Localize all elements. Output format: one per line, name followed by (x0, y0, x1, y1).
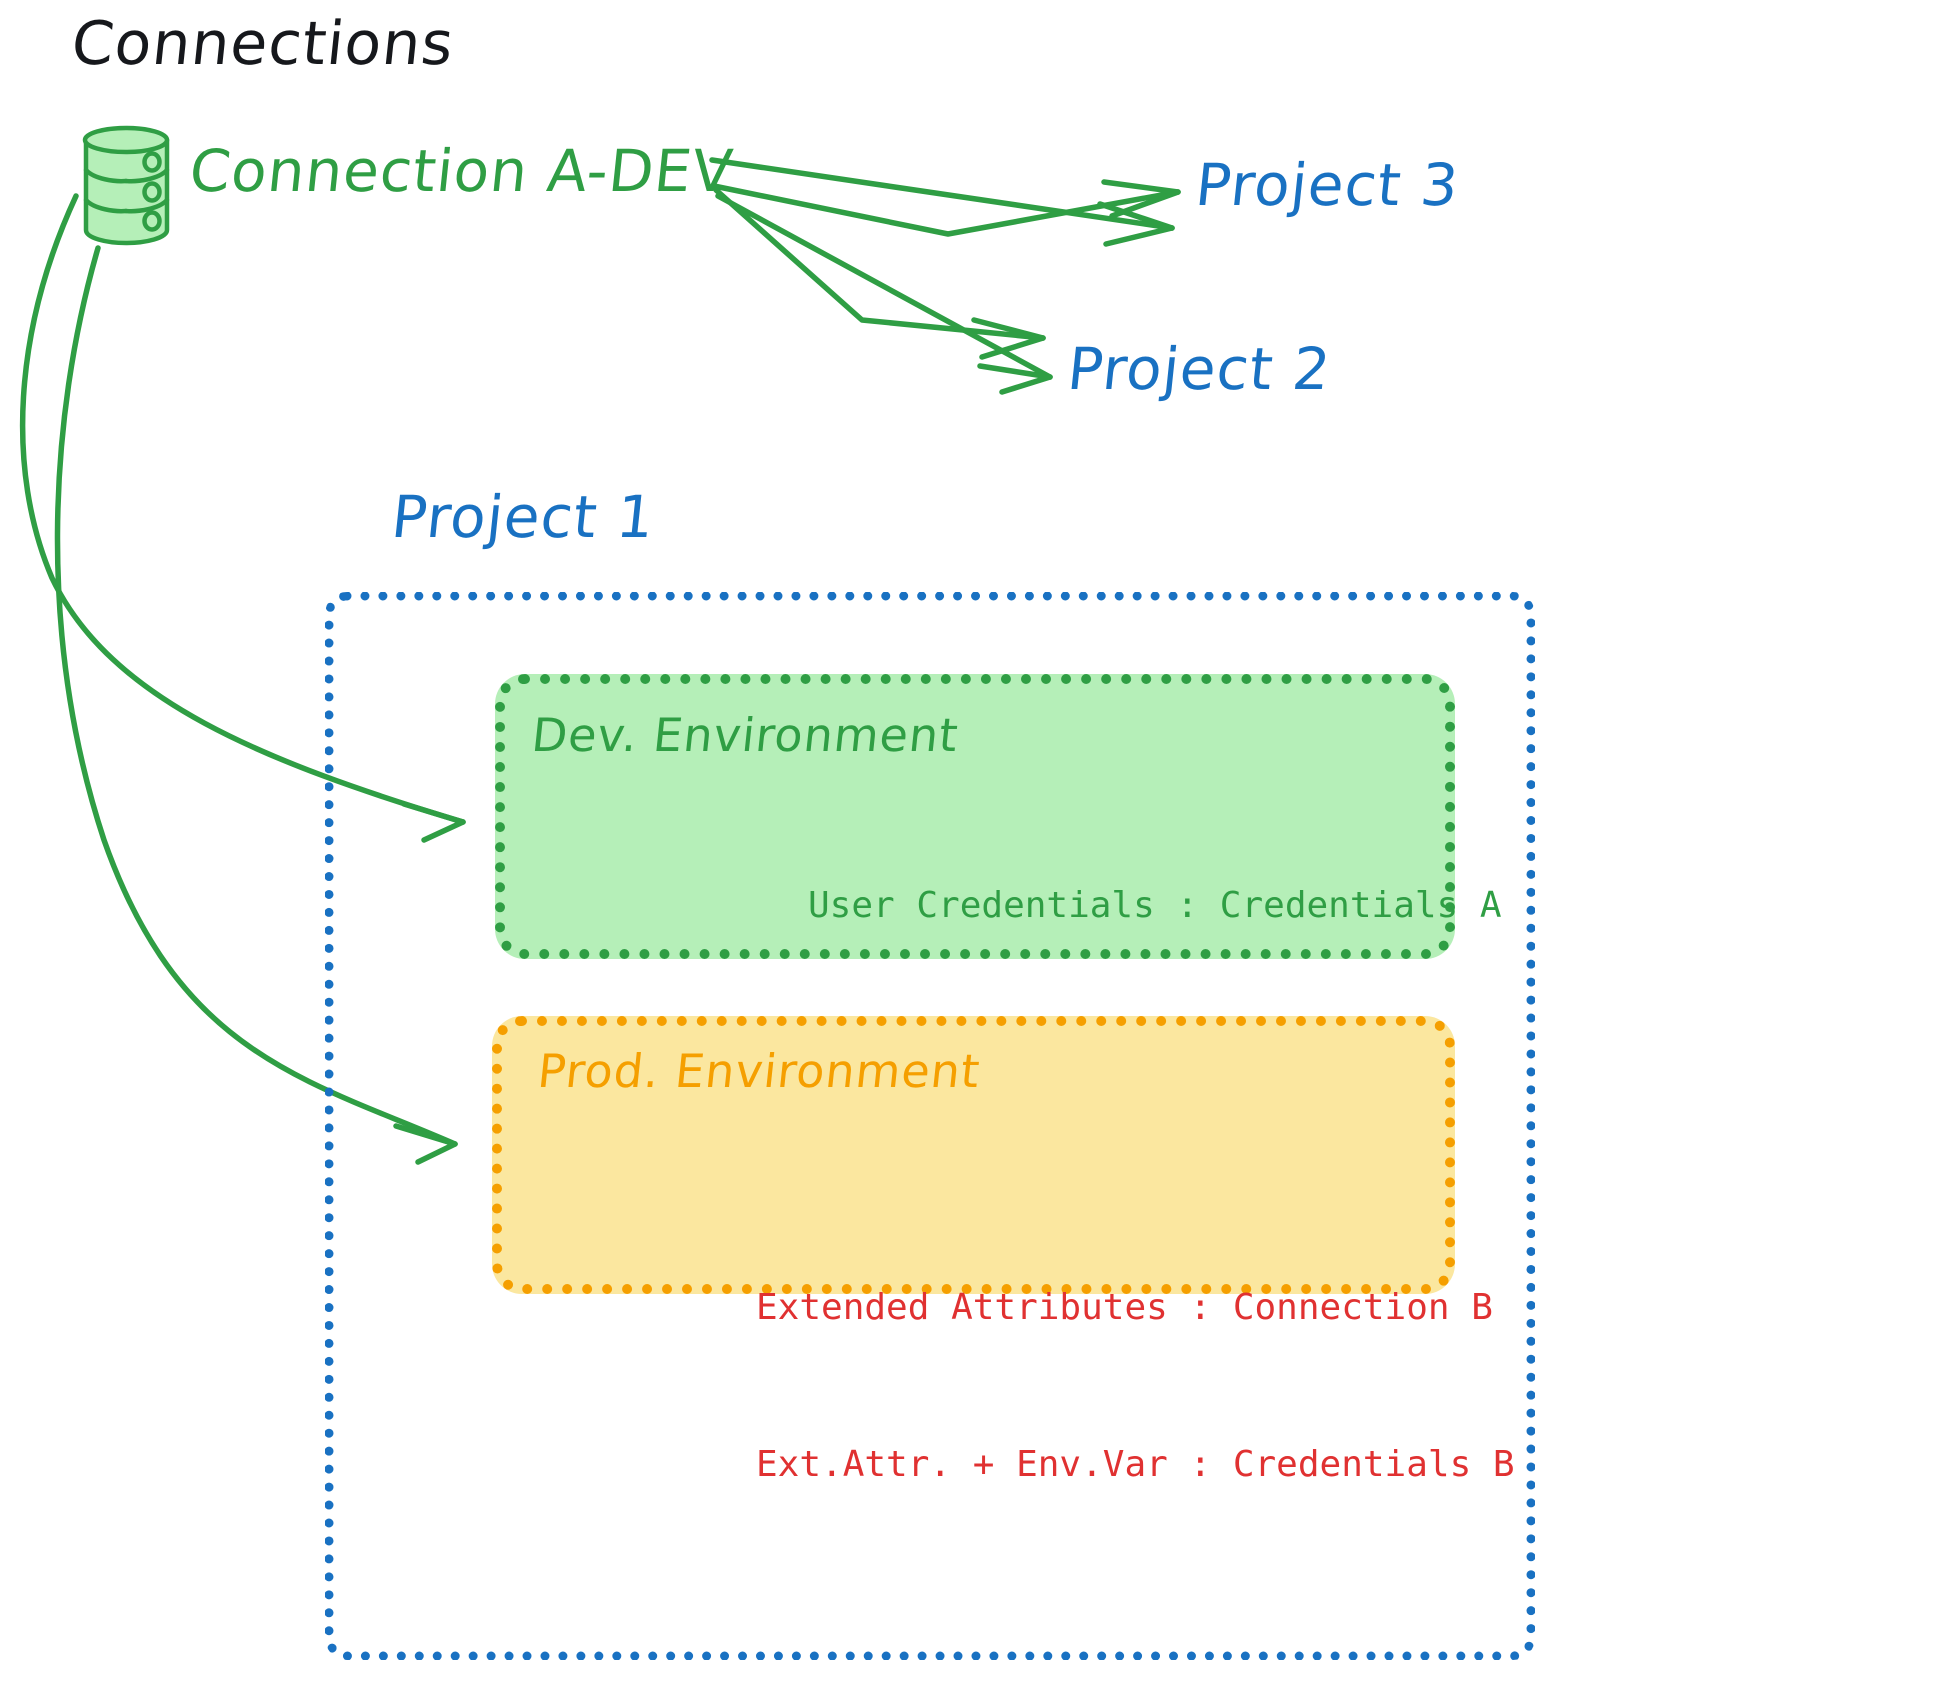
dev-user-credentials-row: User Credentials : Credentials A (808, 880, 1502, 932)
prod-extended-attributes-row: Extended Attributes : Connection B (756, 1282, 1515, 1334)
database-icon (68, 118, 188, 248)
arrow-conn-to-project2-b (718, 196, 1050, 392)
arrow-conn-to-project2-a (716, 190, 1043, 357)
prod-environment-title: Prod. Environment (536, 1048, 983, 1094)
connection-label[interactable]: Connection A-DEV (187, 142, 736, 200)
prod-ext-attr-env-var-row: Ext.Attr. + Env.Var : Credentials B (756, 1439, 1515, 1491)
prod-attribute-rows: Extended Attributes : Connection B Ext.A… (756, 1178, 1515, 1596)
page-title: Connections (69, 14, 457, 74)
project-1-label[interactable]: Project 1 (389, 488, 658, 546)
arrow-conn-to-project3-b (714, 182, 1178, 234)
project-2-label[interactable]: Project 2 (1065, 340, 1334, 398)
dev-environment-title: Dev. Environment (530, 712, 961, 758)
arrow-conn-to-project3-a (712, 160, 1172, 244)
diagram-canvas: Connections Connection A-DEV (0, 0, 1938, 1691)
project-3-label[interactable]: Project 3 (1193, 156, 1462, 214)
